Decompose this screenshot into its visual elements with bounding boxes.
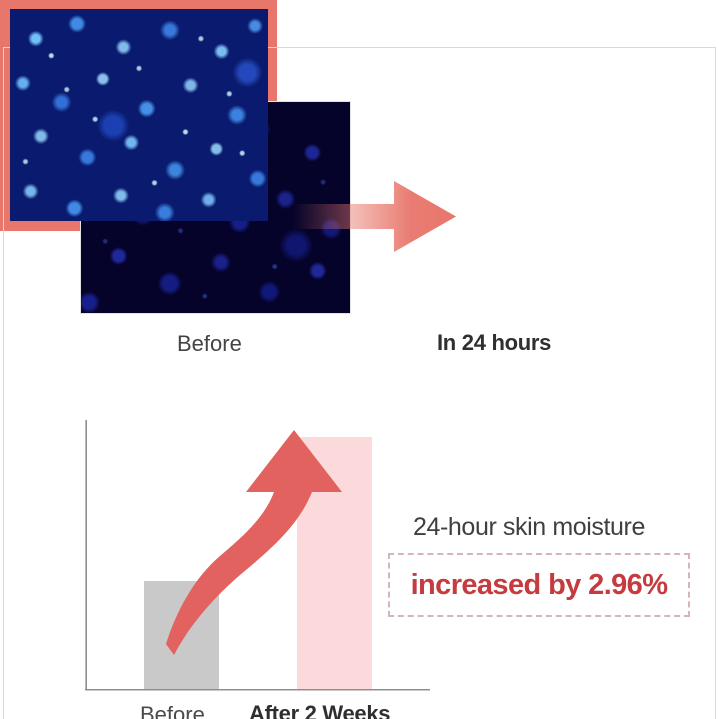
upward-curved-arrow-icon [166,430,378,655]
fluorescence-texture-after [10,9,268,221]
result-value-text: increased by 2.96% [411,569,668,602]
bar-after [297,437,372,689]
callout-heading: 24-hour skin moisture [413,513,645,542]
chart-y-axis [85,420,87,691]
chart-xlabel-before: Before [140,702,205,719]
result-callout-box: increased by 2.96% [388,553,690,617]
caption-before: Before [177,331,242,357]
chart-xlabel-after: After 2 Weeks [249,701,390,719]
microscopy-image-after [10,9,268,221]
microscopy-image-after-frame [0,0,277,231]
right-arrow-icon [293,181,456,252]
infographic-canvas: Before In 24 hours Before After 2 Weeks … [0,0,719,719]
chart-x-axis [85,689,430,691]
bar-before [144,581,219,689]
caption-after: In 24 hours [437,330,551,356]
